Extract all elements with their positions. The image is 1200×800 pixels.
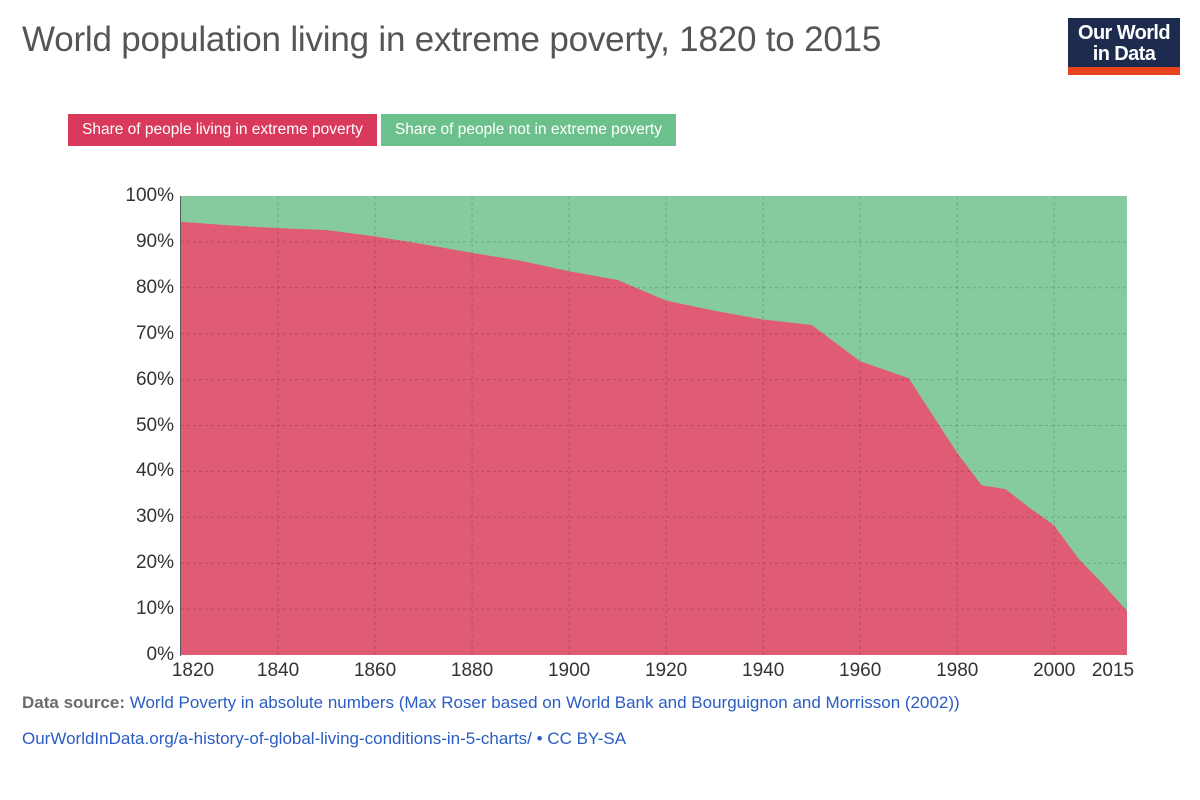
x-tick-label: 1880 (451, 660, 493, 682)
y-tick-label: 30% (102, 506, 174, 528)
data-source-link[interactable]: World Poverty in absolute numbers (Max R… (130, 693, 960, 712)
legend-item-label: Share of people not in extreme poverty (395, 121, 662, 139)
x-tick-label: 1840 (257, 660, 299, 682)
x-tick-label: 1940 (742, 660, 784, 682)
x-tick-label: 2000 (1033, 660, 1075, 682)
x-tick-label: 1960 (839, 660, 881, 682)
y-tick-label: 100% (102, 185, 174, 207)
y-tick-label: 80% (102, 277, 174, 299)
logo-line-one: Our World (1068, 23, 1180, 44)
legend-item-0[interactable]: Share of people living in extreme povert… (68, 114, 377, 146)
data-source-line: Data source: World Poverty in absolute n… (22, 690, 1172, 715)
x-axis: 1820184018601880190019201940196019802000… (181, 660, 1127, 690)
owid-url-link[interactable]: OurWorldInData.org/a-history-of-global-l… (22, 729, 532, 748)
x-tick-label: 1900 (548, 660, 590, 682)
x-tick-label: 1980 (936, 660, 978, 682)
y-tick-label: 70% (102, 323, 174, 345)
stacked-area-chart (181, 196, 1127, 655)
x-tick-label: 1920 (645, 660, 687, 682)
y-axis-line (180, 196, 181, 656)
legend-item-label: Share of people living in extreme povert… (82, 121, 363, 139)
license-label[interactable]: CC BY-SA (547, 729, 626, 748)
y-tick-label: 40% (102, 460, 174, 482)
chart-legend: Share of people living in extreme povert… (68, 114, 676, 146)
legend-item-1[interactable]: Share of people not in extreme poverty (381, 114, 676, 146)
y-tick-label: 0% (102, 644, 174, 666)
y-tick-label: 50% (102, 415, 174, 437)
footer-url-line: OurWorldInData.org/a-history-of-global-l… (22, 729, 1172, 749)
y-tick-label: 60% (102, 369, 174, 391)
logo-accent-bar (1068, 67, 1180, 75)
chart-footer: Data source: World Poverty in absolute n… (22, 690, 1172, 749)
plot-area (181, 196, 1127, 655)
logo-line-two: in Data (1068, 44, 1180, 65)
x-tick-label: 1860 (354, 660, 396, 682)
page-title: World population living in extreme pover… (22, 20, 881, 60)
y-axis: 0%10%20%30%40%50%60%70%80%90%100% (100, 196, 174, 655)
data-source-label: Data source: (22, 693, 125, 712)
footer-separator: • (532, 729, 547, 748)
y-tick-label: 20% (102, 552, 174, 574)
x-tick-label: 1820 (172, 660, 214, 682)
chart-header: World population living in extreme pover… (0, 0, 1200, 100)
gridlines (181, 196, 1127, 655)
y-tick-label: 90% (102, 231, 174, 253)
series-area-in-poverty (181, 222, 1127, 655)
series-area-not-in-poverty (181, 196, 1127, 655)
our-world-in-data-logo[interactable]: Our World in Data (1068, 18, 1180, 75)
x-tick-label: 2015 (1092, 660, 1134, 682)
y-tick-label: 10% (102, 598, 174, 620)
